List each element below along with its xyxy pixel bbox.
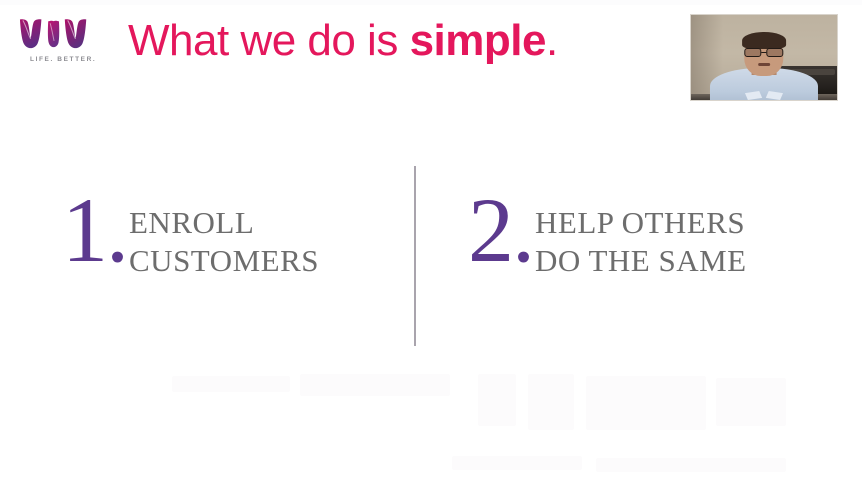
step-1-label-line-2: CUSTOMERS [129, 242, 319, 280]
presentation-slide: LIFE. BETTER. What we do is simple. 1. [0, 0, 862, 485]
presenter-glasses-icon [744, 48, 783, 57]
glasses-lens-left [744, 48, 761, 57]
steps-divider [414, 166, 416, 346]
headline-lead: What we do is [128, 16, 410, 65]
slide-headline: What we do is simple. [128, 16, 558, 67]
steps-container: 1. ENROLL CUSTOMERS 2. HELP OTHERS DO TH… [0, 160, 862, 360]
step-2-label-line-2: DO THE SAME [535, 242, 747, 280]
headline-trailing: . [546, 16, 558, 65]
glasses-bridge [761, 52, 767, 53]
top-edge-strip [0, 0, 862, 5]
step-item-1: 1. ENROLL CUSTOMERS [62, 198, 319, 280]
headline-accent: simple [410, 16, 546, 65]
presenter-collar-right [766, 91, 783, 100]
presenter-hair [742, 32, 786, 49]
glasses-lens-right [767, 48, 784, 57]
step-1-label: ENROLL CUSTOMERS [129, 204, 319, 280]
brand-tagline: LIFE. BETTER. [18, 56, 110, 63]
presenter-mouth [758, 63, 770, 66]
step-item-2: 2. HELP OTHERS DO THE SAME [468, 198, 747, 280]
presenter-webcam-video[interactable] [690, 14, 838, 101]
background-artifact-layer [0, 372, 862, 485]
brand-logo: LIFE. BETTER. [18, 16, 110, 74]
presenter-collar-left [745, 91, 762, 100]
step-2-label-line-1: HELP OTHERS [535, 204, 747, 242]
step-1-label-line-1: ENROLL [129, 204, 319, 242]
viv-logo-icon [18, 16, 96, 52]
step-2-label: HELP OTHERS DO THE SAME [535, 204, 747, 280]
step-2-numeral: 2. [468, 190, 533, 271]
step-1-numeral: 1. [62, 190, 127, 271]
